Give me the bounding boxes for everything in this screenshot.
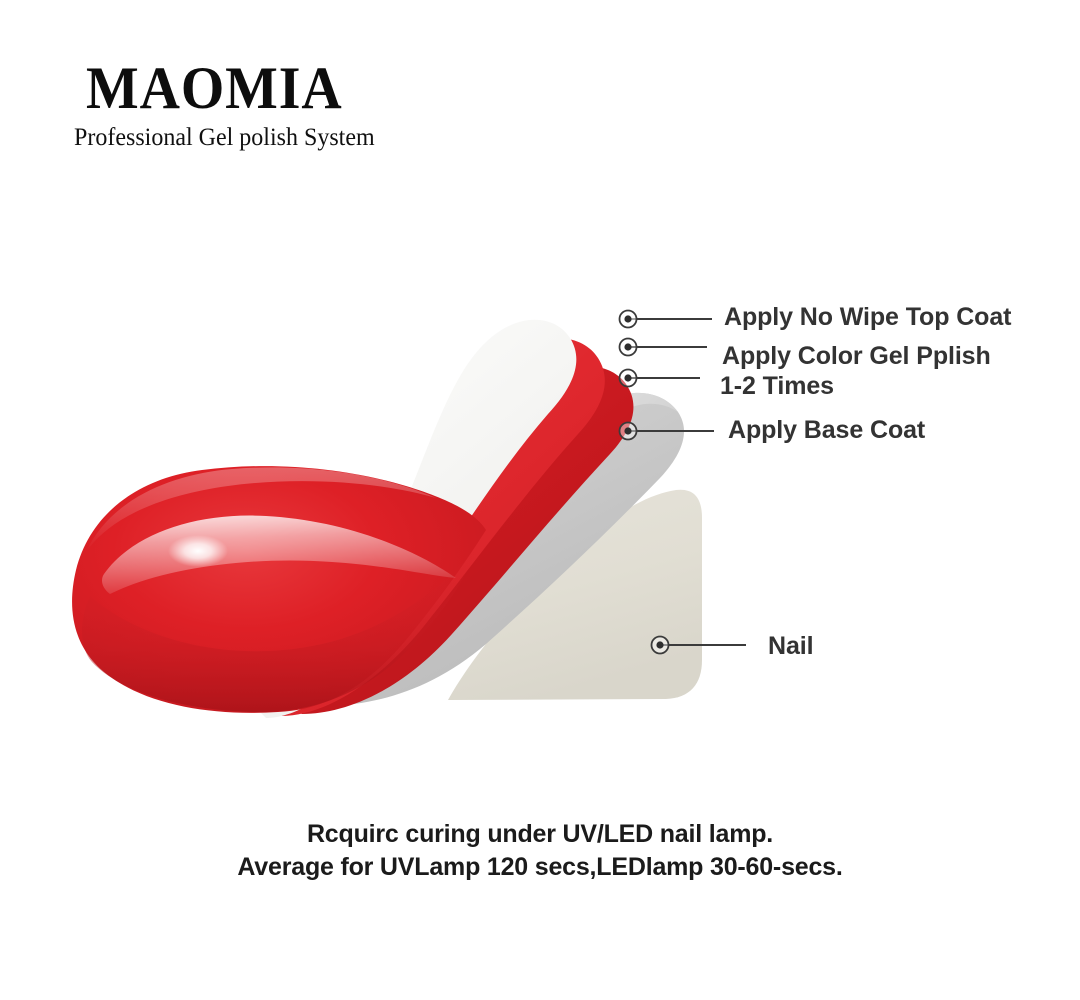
- callout-marker-base-coat[interactable]: [620, 423, 715, 440]
- callout-label-top-coat: Apply No Wipe Top Coat: [724, 303, 1011, 332]
- curing-instructions-line-1: Rcquirc curing under UV/LED nail lamp.: [0, 818, 1080, 851]
- callout-marker-color-gel-times[interactable]: [620, 370, 701, 387]
- callout-marker-color-gel[interactable]: [620, 339, 708, 356]
- callout-label-color-gel-times: 1-2 Times: [720, 372, 834, 401]
- callout-marker-top-coat[interactable]: [620, 311, 713, 328]
- curing-instructions: Rcquirc curing under UV/LED nail lamp. A…: [0, 818, 1080, 883]
- callout-label-base-coat: Apply Base Coat: [728, 416, 925, 445]
- product-instruction-graphic: MAOMIA Professional Gel polish System: [0, 0, 1080, 1000]
- callout-label-color-gel: Apply Color Gel Pplish: [722, 342, 991, 371]
- curing-instructions-line-2: Average for UVLamp 120 secs,LEDlamp 30-6…: [0, 851, 1080, 884]
- callout-label-nail: Nail: [768, 632, 813, 661]
- callout-marker-nail[interactable]: [652, 637, 747, 654]
